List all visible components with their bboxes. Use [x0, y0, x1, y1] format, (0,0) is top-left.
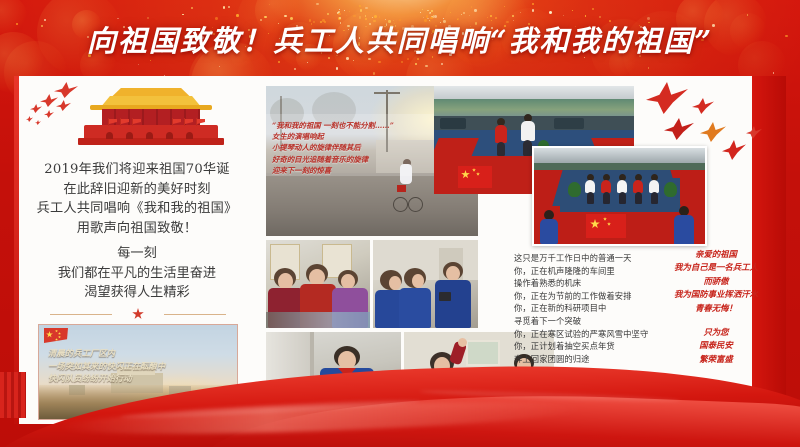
photo-three-women-watching-phone-in-office: [266, 240, 370, 328]
star-icon: [132, 308, 144, 320]
china-flag-icon: [586, 214, 626, 238]
dove-cluster-icon: [24, 82, 88, 134]
china-flag-icon: [458, 166, 492, 188]
china-flag-icon: [44, 328, 68, 343]
flying-red-doves-graphic: [644, 78, 764, 176]
closing-verse: 亲爱的祖国我为自己是一名兵工人而骄傲我为国防事业挥洒汗水青春无悔！只为您国泰民安…: [662, 248, 770, 366]
page-title: 向祖国致敬！兵工人共同唱响“我和我的祖国”: [0, 18, 800, 62]
star-divider: [50, 308, 226, 320]
poster-root: 向祖国致敬！兵工人共同唱响“我和我的祖国”: [0, 0, 800, 447]
tiananmen-gate-icon: [76, 88, 226, 146]
photo-two-workers-in-blue-uniform-reading: [373, 240, 478, 328]
lead-paragraph-2: 每一刻我们都在平凡的生活里奋进渴望获得人生精彩: [24, 244, 250, 303]
photo-overlay-caption: “我和我的祖国 一刻也不能分割……”女生的演唱响起小提琴动人的旋律伴随其后好奇的…: [272, 120, 452, 176]
china-flag-corner: [0, 372, 26, 418]
red-silk-ribbon: [0, 351, 800, 447]
lead-paragraph-1: 2019年我们将迎来祖国70华诞在此辞旧迎新的美好时刻兵工人共同唱响《我和我的祖…: [24, 160, 250, 238]
